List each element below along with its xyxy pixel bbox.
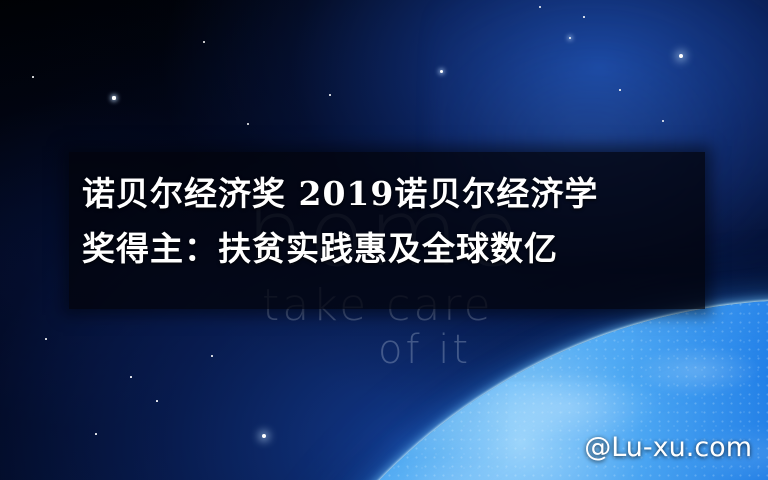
banner-image: home take care of it 诺贝尔经济奖 2019诺贝尔经济学 奖…	[0, 0, 768, 480]
headline-line-2: 奖得主：扶贫实践惠及全球数亿	[82, 221, 694, 276]
headline-text: 诺贝尔经济奖 2019诺贝尔经济学 奖得主：扶贫实践惠及全球数亿	[82, 166, 694, 276]
site-watermark: @Lu-xu.com	[584, 432, 752, 463]
headline-line-1: 诺贝尔经济奖 2019诺贝尔经济学	[82, 166, 694, 221]
background-watermark-of-it: of it	[378, 330, 471, 370]
